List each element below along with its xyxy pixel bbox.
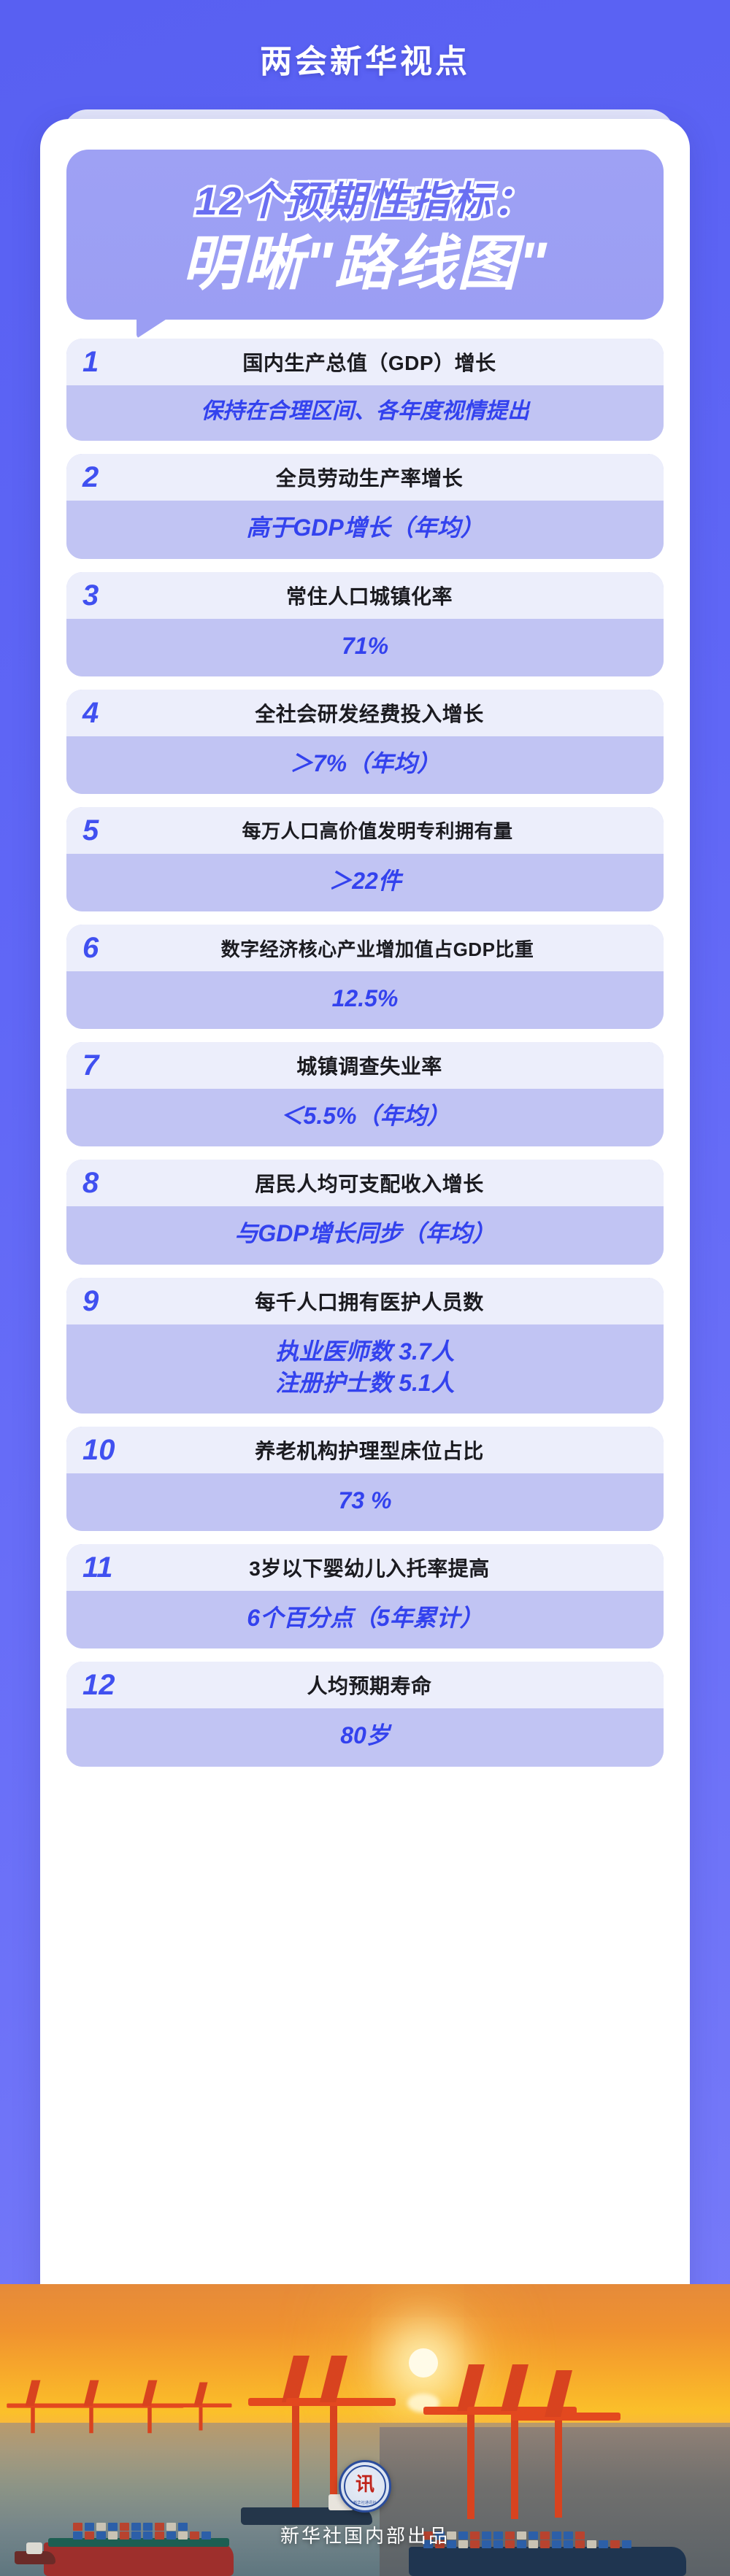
indicator-number: 5: [82, 816, 139, 845]
indicator-number: 12: [82, 1670, 139, 1700]
indicator-value: 80岁: [66, 1708, 664, 1766]
indicator-item-10: 10 养老机构护理型床位占比 73 %: [66, 1427, 664, 1531]
indicator-label: 城镇调查失业率: [139, 1051, 645, 1080]
indicator-label: 常住人口城镇化率: [139, 581, 645, 610]
indicator-label: 养老机构护理型床位占比: [139, 1435, 645, 1465]
indicator-number: 1: [82, 347, 139, 377]
indicator-number: 8: [82, 1168, 139, 1198]
crane-icon: [199, 2405, 203, 2431]
indicator-header: 6 数字经济核心产业增加值占GDP比重: [66, 925, 664, 971]
indicator-value: 12.5%: [66, 971, 664, 1029]
indicator-header: 5 每万人口高价值发明专利拥有量: [66, 807, 664, 854]
top-banner: 两会新华视点: [0, 0, 730, 117]
indicator-header: 7 城镇调查失业率: [66, 1042, 664, 1089]
crane-icon: [147, 2405, 152, 2434]
indicator-number: 10: [82, 1435, 139, 1465]
indicator-label: 数字经济核心产业增加值占GDP比重: [139, 935, 645, 962]
indicator-item-2: 2 全员劳动生产率增长 高于GDP增长（年均）: [66, 454, 664, 558]
title-line-2: 明晰"路线图": [81, 231, 649, 298]
indicator-list: 1 国内生产总值（GDP）增长 保持在合理区间、各年度视情提出 2 全员劳动生产…: [66, 339, 664, 1767]
indicator-label: 居民人均可支配收入增长: [139, 1168, 645, 1198]
indicator-label: 国内生产总值（GDP）增长: [139, 347, 645, 377]
indicator-header: 4 全社会研发经费投入增长: [66, 690, 664, 736]
indicator-item-8: 8 居民人均可支配收入增长 与GDP增长同步（年均）: [66, 1160, 664, 1264]
indicator-item-12: 12 人均预期寿命 80岁: [66, 1662, 664, 1766]
indicator-item-4: 4 全社会研发经费投入增长 ＞7%（年均）: [66, 690, 664, 794]
indicator-header: 8 居民人均可支配收入增长: [66, 1160, 664, 1206]
footer-brand: 讯 新华社通讯社 新华社国内部出品: [0, 2460, 730, 2548]
indicator-number: 7: [82, 1051, 139, 1080]
main-card: 12个预期性指标： 明晰"路线图" 1 国内生产总值（GDP）增长 保持在合理区…: [40, 119, 690, 2337]
indicator-header: 9 每千人口拥有医护人员数: [66, 1278, 664, 1324]
indicator-value: 执业医师数 3.7人 注册护士数 5.1人: [66, 1324, 664, 1414]
indicator-value-line-1: 执业医师数 3.7人: [81, 1336, 649, 1368]
indicator-header: 1 国内生产总值（GDP）增长: [66, 339, 664, 385]
indicator-value: 6个百分点（5年累计）: [66, 1591, 664, 1648]
indicator-number: 4: [82, 698, 139, 728]
indicator-item-6: 6 数字经济核心产业增加值占GDP比重 12.5%: [66, 925, 664, 1029]
indicator-value: 保持在合理区间、各年度视情提出: [66, 385, 664, 441]
indicator-item-7: 7 城镇调查失业率 ＜5.5%（年均）: [66, 1042, 664, 1146]
indicator-number: 3: [82, 581, 139, 610]
banner-title: 两会新华视点: [260, 35, 470, 82]
indicator-number: 11: [82, 1553, 139, 1582]
indicator-item-5: 5 每万人口高价值发明专利拥有量 ＞22件: [66, 807, 664, 911]
indicator-label: 全员劳动生产率增长: [139, 463, 645, 492]
indicator-label: 每万人口高价值发明专利拥有量: [139, 817, 645, 844]
indicator-label: 3岁以下婴幼儿入托率提高: [139, 1553, 645, 1582]
indicator-value: ＜5.5%（年均）: [66, 1089, 664, 1146]
port-sunset-photo: 讯 新华社通讯社 新华社国内部出品: [0, 2284, 730, 2576]
indicator-item-11: 11 3岁以下婴幼儿入托率提高 6个百分点（5年累计）: [66, 1544, 664, 1648]
footer-text: 新华社国内部出品: [280, 2521, 450, 2548]
indicator-number: 6: [82, 933, 139, 963]
sun: [409, 2348, 438, 2378]
indicator-value: 73 %: [66, 1473, 664, 1531]
indicator-value-line-2: 注册护士数 5.1人: [81, 1368, 649, 1399]
crane-icon: [31, 2405, 35, 2434]
indicator-item-9: 9 每千人口拥有医护人员数 执业医师数 3.7人 注册护士数 5.1人: [66, 1278, 664, 1414]
indicator-label: 每千人口拥有医护人员数: [139, 1287, 645, 1316]
indicator-number: 9: [82, 1287, 139, 1316]
indicator-header: 10 养老机构护理型床位占比: [66, 1427, 664, 1473]
title-bubble: 12个预期性指标： 明晰"路线图": [66, 150, 664, 320]
indicator-header: 2 全员劳动生产率增长: [66, 454, 664, 501]
logo-subtext: 新华社通讯社: [341, 2500, 389, 2505]
indicator-header: 12 人均预期寿命: [66, 1662, 664, 1708]
logo-mark: 讯: [356, 2475, 374, 2494]
indicator-label: 人均预期寿命: [139, 1670, 645, 1700]
indicator-value: 71%: [66, 619, 664, 676]
indicator-header: 3 常住人口城镇化率: [66, 572, 664, 619]
indicator-label: 全社会研发经费投入增长: [139, 698, 645, 728]
indicator-value: 与GDP增长同步（年均）: [66, 1206, 664, 1264]
indicator-item-1: 1 国内生产总值（GDP）增长 保持在合理区间、各年度视情提出: [66, 339, 664, 441]
indicator-value: ＞22件: [66, 854, 664, 911]
indicator-header: 11 3岁以下婴幼儿入托率提高: [66, 1544, 664, 1591]
xinhua-logo-icon: 讯 新华社通讯社: [339, 2460, 391, 2513]
crane-icon: [89, 2405, 93, 2434]
indicator-value: ＞7%（年均）: [66, 736, 664, 794]
title-line-1: 12个预期性指标：: [81, 169, 649, 226]
indicator-value: 高于GDP增长（年均）: [66, 501, 664, 558]
indicator-item-3: 3 常住人口城镇化率 71%: [66, 572, 664, 676]
indicator-number: 2: [82, 463, 139, 492]
